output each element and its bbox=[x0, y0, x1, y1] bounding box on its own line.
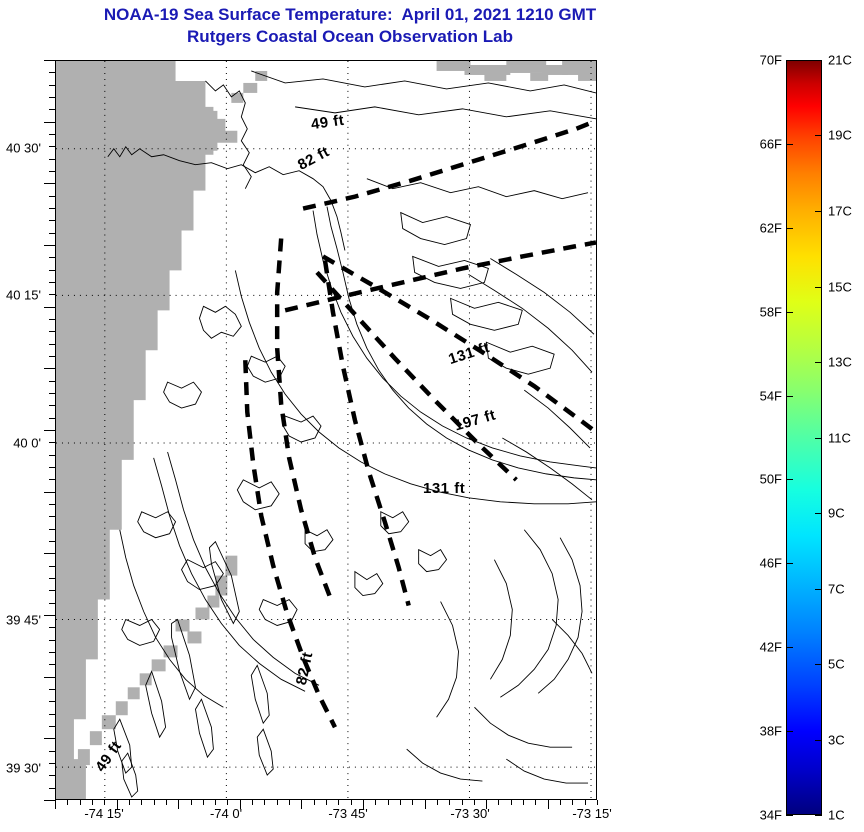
x-axis-minor-tick bbox=[338, 800, 339, 805]
x-axis-minor-tick bbox=[92, 800, 93, 805]
y-axis-minor-tick bbox=[49, 405, 55, 406]
y-axis-minor-tick bbox=[49, 344, 55, 345]
y-axis-label-0: 40 30' bbox=[0, 141, 41, 156]
colorbar-right-label-7: 7C bbox=[828, 582, 845, 597]
x-axis-minor-tick bbox=[388, 800, 389, 805]
y-axis-minor-tick bbox=[49, 282, 55, 283]
x-axis-minor-tick bbox=[412, 800, 413, 805]
y-axis-minor-tick bbox=[49, 233, 55, 234]
y-axis-minor-tick bbox=[49, 97, 55, 98]
y-axis-minor-tick bbox=[49, 455, 55, 456]
x-axis-minor-tick bbox=[141, 800, 142, 805]
y-axis-minor-tick bbox=[49, 775, 55, 776]
y-axis-minor-tick bbox=[49, 763, 55, 764]
x-axis-minor-tick bbox=[314, 800, 315, 805]
x-axis-minor-tick bbox=[80, 800, 81, 805]
x-axis-major-tick bbox=[548, 800, 549, 809]
y-axis-minor-tick bbox=[49, 751, 55, 752]
colorbar-right-tick-3 bbox=[815, 287, 822, 288]
y-axis-major-tick bbox=[44, 307, 55, 308]
title-line-1: NOAA-19 Sea Surface Temperature: April 0… bbox=[0, 4, 700, 26]
x-axis-major-tick bbox=[178, 800, 179, 809]
x-axis-minor-tick bbox=[264, 800, 265, 805]
x-axis-label-1: -74 0' bbox=[210, 806, 242, 821]
x-axis-minor-tick bbox=[215, 800, 216, 805]
colorbar-left-tick-4 bbox=[786, 396, 793, 397]
y-axis-minor-tick bbox=[49, 208, 55, 209]
y-axis-major-tick bbox=[44, 615, 55, 616]
y-axis-minor-tick bbox=[49, 294, 55, 295]
x-axis-label-2: -73 45' bbox=[328, 806, 367, 821]
x-axis-minor-tick bbox=[154, 800, 155, 805]
colorbar-left-label-3: 58F bbox=[738, 305, 782, 320]
y-axis-label-3: 39 45' bbox=[0, 613, 41, 628]
colorbar-left-tick-2 bbox=[786, 228, 793, 229]
colorbar-left-label-1: 66F bbox=[738, 137, 782, 152]
x-axis-minor-tick bbox=[449, 800, 450, 805]
colorbar-right-tick-1 bbox=[815, 135, 822, 136]
colorbar-right-label-6: 9C bbox=[828, 506, 845, 521]
y-axis-minor-tick bbox=[49, 270, 55, 271]
colorbar-left-label-5: 50F bbox=[738, 472, 782, 487]
y-axis-minor-tick bbox=[49, 788, 55, 789]
colorbar-right-tick-6 bbox=[815, 513, 822, 514]
x-axis-minor-tick bbox=[462, 800, 463, 805]
y-axis-minor-tick bbox=[49, 664, 55, 665]
colorbar-left-label-7: 42F bbox=[738, 640, 782, 655]
temperature-colorbar[interactable]: 70F66F62F58F54F50F46F42F38F34F21C19C17C1… bbox=[786, 60, 822, 815]
y-axis-major-tick bbox=[44, 553, 55, 554]
y-axis-major-tick bbox=[44, 800, 55, 801]
y-axis-minor-tick bbox=[49, 689, 55, 690]
y-axis-minor-tick bbox=[49, 418, 55, 419]
x-axis-minor-tick bbox=[252, 800, 253, 805]
y-axis-minor-tick bbox=[49, 171, 55, 172]
y-axis-minor-tick bbox=[49, 393, 55, 394]
y-axis-minor-tick bbox=[49, 442, 55, 443]
x-axis-minor-tick bbox=[572, 800, 573, 805]
colorbar-right-label-8: 5C bbox=[828, 657, 845, 672]
colorbar-left-tick-7 bbox=[786, 647, 793, 648]
colorbar-left-tick-5 bbox=[786, 479, 793, 480]
colorbar-left-label-0: 70F bbox=[738, 53, 782, 68]
colorbar-left-tick-1 bbox=[786, 144, 793, 145]
x-axis-minor-tick bbox=[277, 800, 278, 805]
colorbar-left-tick-8 bbox=[786, 731, 793, 732]
y-axis-major-tick bbox=[44, 245, 55, 246]
colorbar-right-tick-0 bbox=[815, 60, 822, 61]
x-axis-minor-tick bbox=[437, 800, 438, 805]
colorbar-right-label-3: 15C bbox=[828, 280, 852, 295]
x-axis-minor-tick bbox=[511, 800, 512, 805]
y-axis-minor-tick bbox=[49, 319, 55, 320]
y-axis-minor-tick bbox=[49, 640, 55, 641]
y-axis-minor-tick bbox=[49, 578, 55, 579]
y-axis-minor-tick bbox=[49, 652, 55, 653]
y-axis-minor-tick bbox=[49, 726, 55, 727]
y-axis-minor-tick bbox=[49, 356, 55, 357]
y-axis-minor-tick bbox=[49, 701, 55, 702]
y-axis-minor-tick bbox=[49, 146, 55, 147]
colorbar-right-label-5: 11C bbox=[828, 431, 851, 446]
y-axis-major-tick bbox=[44, 430, 55, 431]
y-axis-label-4: 39 30' bbox=[0, 761, 41, 776]
y-axis-label-2: 40 0' bbox=[0, 436, 41, 451]
sst-map-panel[interactable] bbox=[55, 60, 597, 800]
y-axis-minor-tick bbox=[49, 603, 55, 604]
y-axis-major-tick bbox=[44, 492, 55, 493]
colorbar-left-tick-6 bbox=[786, 563, 793, 564]
x-axis-minor-tick bbox=[585, 800, 586, 805]
y-axis-major-tick bbox=[44, 60, 55, 61]
x-axis-label-3: -73 30' bbox=[450, 806, 489, 821]
y-axis-minor-tick bbox=[49, 134, 55, 135]
x-axis-minor-tick bbox=[400, 800, 401, 805]
x-axis-minor-tick bbox=[289, 800, 290, 805]
x-axis-label-4: -73 15' bbox=[572, 806, 611, 821]
x-axis-minor-tick bbox=[375, 800, 376, 805]
colorbar-right-label-9: 3C bbox=[828, 733, 845, 748]
x-axis-minor-tick bbox=[104, 800, 105, 805]
colorbar-right-tick-9 bbox=[815, 740, 822, 741]
x-axis-minor-tick bbox=[129, 800, 130, 805]
colorbar-right-tick-5 bbox=[815, 438, 822, 439]
x-axis-minor-tick bbox=[227, 800, 228, 805]
colorbar-right-tick-10 bbox=[815, 815, 822, 816]
x-axis-minor-tick bbox=[351, 800, 352, 805]
y-axis-minor-tick bbox=[49, 196, 55, 197]
x-axis-minor-tick bbox=[498, 800, 499, 805]
y-axis-minor-tick bbox=[49, 331, 55, 332]
y-axis-minor-tick bbox=[49, 479, 55, 480]
colorbar-left-tick-3 bbox=[786, 312, 793, 313]
depth-label-131ft-lower: 131 ft bbox=[423, 480, 465, 497]
x-axis-minor-tick bbox=[535, 800, 536, 805]
colorbar-right-label-4: 13C bbox=[828, 355, 852, 370]
y-axis-minor-tick bbox=[49, 504, 55, 505]
y-axis-label-1: 40 15' bbox=[0, 288, 41, 303]
y-axis-minor-tick bbox=[49, 220, 55, 221]
page-title: NOAA-19 Sea Surface Temperature: April 0… bbox=[0, 4, 700, 48]
y-axis-minor-tick bbox=[49, 566, 55, 567]
y-axis-major-tick bbox=[44, 368, 55, 369]
x-axis-major-tick bbox=[55, 800, 56, 809]
x-axis-minor-tick bbox=[166, 800, 167, 805]
colorbar-left-label-2: 62F bbox=[738, 221, 782, 236]
map-canvas bbox=[56, 61, 596, 799]
colorbar-right-label-10: 1C bbox=[828, 808, 845, 823]
x-axis-minor-tick bbox=[523, 800, 524, 805]
y-axis-minor-tick bbox=[49, 467, 55, 468]
x-axis-minor-tick bbox=[67, 800, 68, 805]
colorbar-right-tick-2 bbox=[815, 211, 822, 212]
y-axis-minor-tick bbox=[49, 85, 55, 86]
y-axis-minor-tick bbox=[49, 72, 55, 73]
y-axis-minor-tick bbox=[49, 257, 55, 258]
y-axis-minor-tick bbox=[49, 516, 55, 517]
y-axis-minor-tick bbox=[49, 109, 55, 110]
colorbar-right-label-2: 17C bbox=[828, 204, 852, 219]
colorbar-right-tick-8 bbox=[815, 664, 822, 665]
x-axis-minor-tick bbox=[597, 800, 598, 805]
colorbar-left-label-4: 54F bbox=[738, 389, 782, 404]
y-axis-minor-tick bbox=[49, 541, 55, 542]
colorbar-right-tick-7 bbox=[815, 589, 822, 590]
colorbar-left-tick-0 bbox=[786, 60, 793, 61]
y-axis-minor-tick bbox=[49, 381, 55, 382]
x-axis-major-tick bbox=[301, 800, 302, 809]
y-axis-minor-tick bbox=[49, 159, 55, 160]
colorbar-left-label-9: 34F bbox=[738, 808, 782, 823]
title-line-2: Rutgers Coastal Ocean Observation Lab bbox=[0, 26, 700, 48]
colorbar-left-label-8: 38F bbox=[738, 724, 782, 739]
colorbar-left-label-6: 46F bbox=[738, 556, 782, 571]
x-axis-minor-tick bbox=[191, 800, 192, 805]
y-axis-minor-tick bbox=[49, 529, 55, 530]
y-axis-major-tick bbox=[44, 183, 55, 184]
y-axis-major-tick bbox=[44, 738, 55, 739]
x-axis-major-tick bbox=[425, 800, 426, 809]
colorbar-right-tick-4 bbox=[815, 362, 822, 363]
y-axis-major-tick bbox=[44, 122, 55, 123]
y-axis-major-tick bbox=[44, 677, 55, 678]
x-axis-minor-tick bbox=[560, 800, 561, 805]
y-axis-minor-tick bbox=[49, 714, 55, 715]
y-axis-minor-tick bbox=[49, 590, 55, 591]
x-axis-minor-tick bbox=[326, 800, 327, 805]
y-axis-minor-tick bbox=[49, 627, 55, 628]
x-axis-minor-tick bbox=[203, 800, 204, 805]
x-axis-minor-tick bbox=[474, 800, 475, 805]
x-axis-label-0: -74 15' bbox=[84, 806, 123, 821]
colorbar-right-label-0: 21C bbox=[828, 53, 852, 68]
colorbar-right-label-1: 19C bbox=[828, 128, 852, 143]
colorbar-left-tick-9 bbox=[786, 815, 793, 816]
